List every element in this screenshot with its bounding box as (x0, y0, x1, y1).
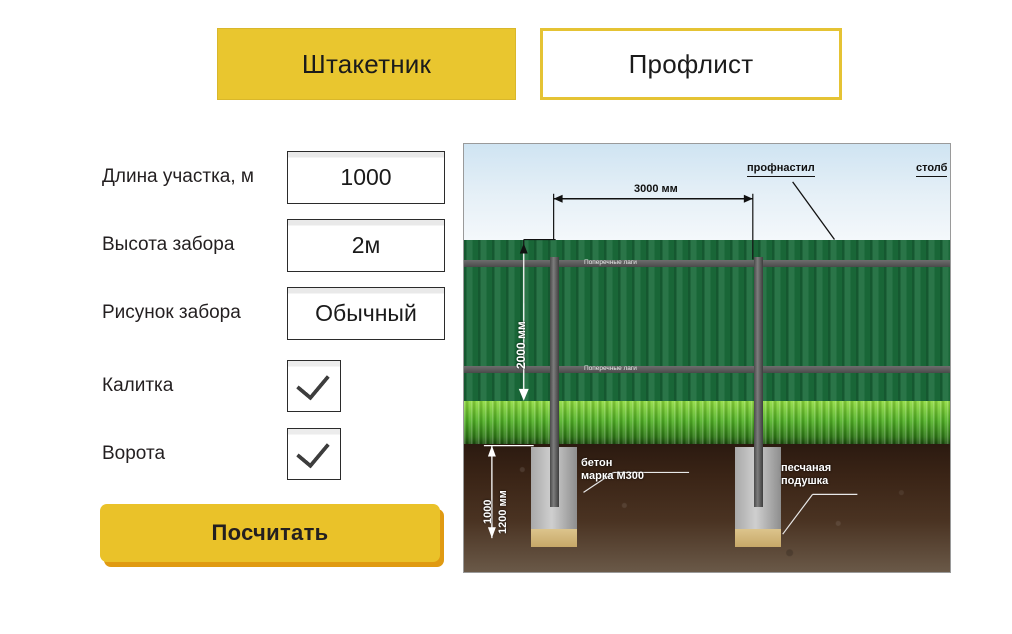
tab-shtaketnik[interactable]: Штакетник (217, 28, 516, 100)
form-row-wicket: Калитка (102, 352, 452, 420)
checkbox-gates[interactable] (287, 428, 341, 480)
input-height-value: 2м (352, 232, 381, 259)
form-row-gates: Ворота (102, 420, 452, 488)
diagram-label-concrete-line2: марка М300 (581, 470, 644, 483)
diagram-dimension-height: 2000 мм (514, 321, 528, 369)
label-height: Высота забора (102, 234, 287, 257)
tab-shtaketnik-label: Штакетник (302, 49, 431, 80)
tab-proflist[interactable]: Профлист (540, 28, 842, 100)
fence-diagram: Поперечные лаги Поперечные лаги (463, 143, 951, 573)
diagram-leader-lines (464, 144, 950, 572)
form-row-length: Длина участка, м 1000 (102, 148, 452, 206)
check-icon (296, 365, 330, 400)
label-wicket: Калитка (102, 375, 287, 398)
calculate-button[interactable]: Посчитать (100, 504, 440, 562)
input-length[interactable]: 1000 (287, 151, 445, 204)
diagram-dimension-depth-outer: 1000 (482, 500, 494, 524)
diagram-label-sand-line2: подушка (781, 475, 828, 488)
diagram-label-stolb: столб (916, 162, 947, 177)
diagram-dimension-depth-inner: 1200 мм (497, 490, 509, 534)
diagram-dimension-span: 3000 мм (634, 183, 678, 195)
diagram-label-sand-line1: песчаная (781, 462, 831, 475)
form-row-pattern: Рисунок забора Обычный (102, 284, 452, 342)
checkbox-wicket[interactable] (287, 360, 341, 412)
tab-bar: Штакетник Профлист (217, 28, 842, 100)
label-length: Длина участка, м (102, 166, 287, 189)
diagram-label-concrete-line1: бетон (581, 457, 612, 470)
select-pattern[interactable]: Обычный (287, 287, 445, 340)
calculator-form: Длина участка, м 1000 Высота забора 2м Р… (102, 148, 452, 488)
tab-proflist-label: Профлист (629, 49, 754, 80)
diagram-label-profnastil: профнастил (747, 162, 815, 177)
form-row-height: Высота забора 2м (102, 216, 452, 274)
input-height[interactable]: 2м (287, 219, 445, 272)
calculate-button-label: Посчитать (212, 520, 329, 546)
input-length-value: 1000 (340, 164, 391, 191)
label-pattern: Рисунок забора (102, 302, 287, 325)
check-icon (296, 433, 330, 468)
label-gates: Ворота (102, 443, 287, 466)
select-pattern-value: Обычный (315, 300, 417, 327)
